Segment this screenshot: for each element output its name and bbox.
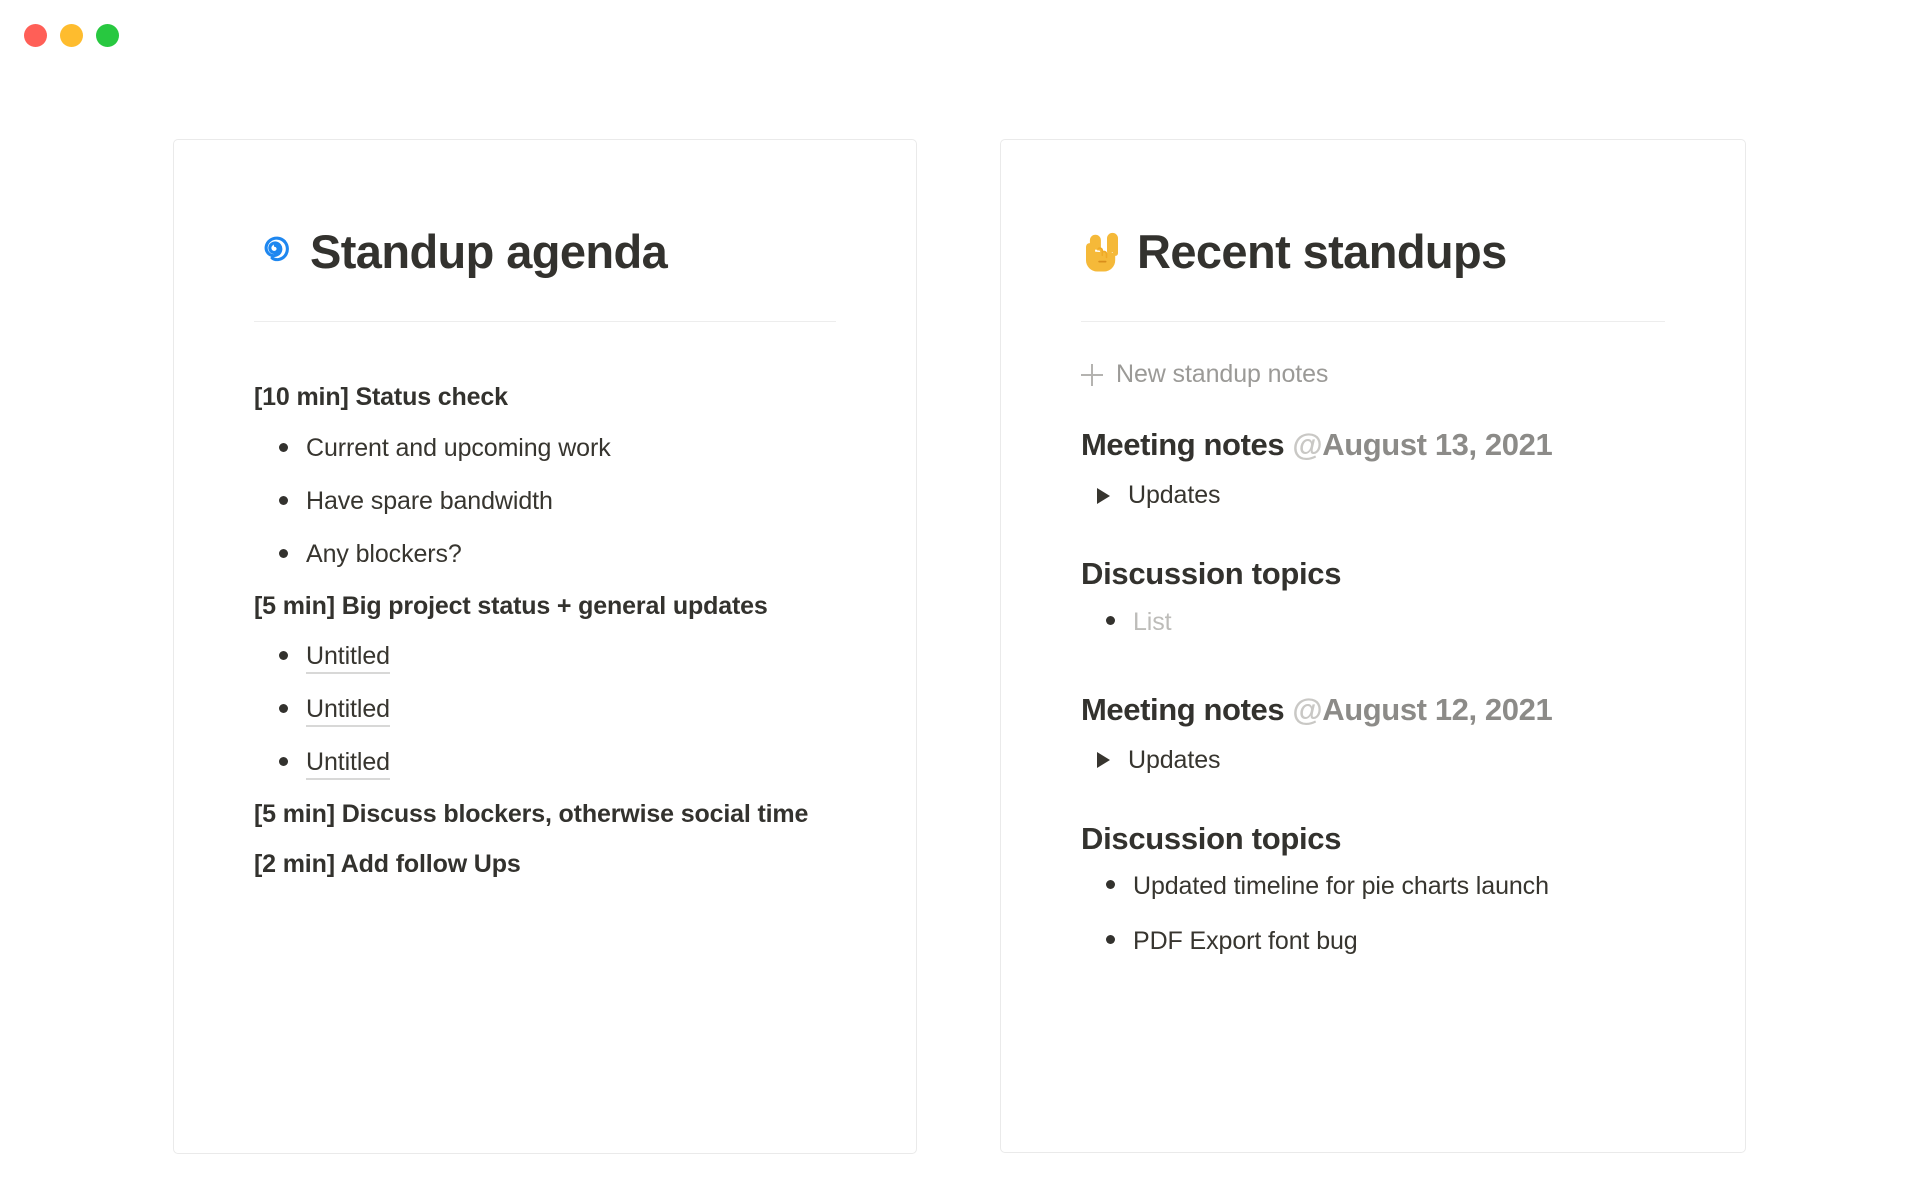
list-item-text: Current and upcoming work [306,434,611,462]
list-item-text: PDF Export font bug [1133,927,1358,955]
list-item[interactable]: Untitled [254,736,836,789]
discussion-topics-heading: Discussion topics [1081,779,1665,859]
agenda-block: [5 min] Discuss blockers, otherwise soci… [254,789,836,839]
list-item[interactable]: Have spare bandwidth [254,475,836,528]
standup-agenda-title: Standup agenda [310,225,667,279]
untitled-page-link[interactable]: Untitled [306,642,390,674]
new-standup-notes-label: New standup notes [1116,360,1328,389]
minimize-window-button[interactable] [60,24,83,47]
agenda-bullet-list: Current and upcoming work Have spare ban… [254,422,836,581]
list-item[interactable]: Untitled [254,683,836,736]
list-item[interactable]: Untitled [254,630,836,683]
close-window-button[interactable] [24,24,47,47]
list-item[interactable]: Updated timeline for pie charts launch [1081,859,1665,914]
list-item-text: Have spare bandwidth [306,487,553,515]
standup-entry-date-text: August 13, 2021 [1322,427,1552,462]
standup-agenda-content: Standup agenda [10 min] Status check Cur… [174,140,916,888]
standup-entry-date-text: August 12, 2021 [1322,692,1552,727]
list-item-text: List [1133,608,1172,636]
discussion-topics-list: List [1081,595,1665,650]
standup-entry: Meeting notes @August 13, 2021 Updates D… [1081,403,1665,650]
list-item-text: Updated timeline for pie charts launch [1133,872,1549,900]
chevron-right-icon[interactable] [1097,752,1110,768]
recent-standups-card: Recent standups New standup notes Meetin… [1000,139,1746,1153]
discussion-topics-heading: Discussion topics [1081,514,1665,594]
at-symbol: @ [1292,427,1322,462]
list-item[interactable]: List [1081,595,1665,650]
app-canvas: Standup agenda [10 min] Status check Cur… [0,0,1920,1200]
maximize-window-button[interactable] [96,24,119,47]
standup-entry: Meeting notes @August 12, 2021 Updates D… [1081,668,1665,970]
traffic-light-buttons [24,24,119,47]
standup-entry-title-row[interactable]: Meeting notes @August 12, 2021 [1081,690,1665,730]
list-item[interactable]: Any blockers? [254,528,836,581]
plus-icon [1081,364,1103,386]
recent-standups-body: New standup notes Meeting notes @August … [1081,322,1665,969]
cyclone-icon [254,232,294,272]
agenda-heading[interactable]: [10 min] Status check [254,372,836,422]
updates-toggle[interactable]: Updates [1081,730,1665,779]
recent-standups-content: Recent standups New standup notes Meetin… [1001,140,1745,969]
agenda-block: [5 min] Big project status + general upd… [254,581,836,790]
agenda-heading[interactable]: [2 min] Add follow Ups [254,839,836,889]
updates-toggle[interactable]: Updates [1081,465,1665,514]
agenda-block: [10 min] Status check Current and upcomi… [254,372,836,581]
recent-standups-title-row: Recent standups [1081,140,1665,279]
standup-entry-date: @August 12, 2021 [1292,692,1552,727]
standup-entry-title: Meeting notes [1081,692,1284,727]
chevron-right-icon[interactable] [1097,488,1110,504]
agenda-bullet-list: Untitled Untitled Untitled [254,630,836,789]
agenda-block: [2 min] Add follow Ups [254,839,836,889]
list-item[interactable]: Current and upcoming work [254,422,836,475]
updates-toggle-label: Updates [1128,746,1220,775]
discussion-topics-list: Updated timeline for pie charts launch P… [1081,859,1665,969]
standup-entry-title: Meeting notes [1081,427,1284,462]
recent-standups-title: Recent standups [1137,225,1507,279]
standup-entry-title-row[interactable]: Meeting notes @August 13, 2021 [1081,425,1665,465]
untitled-page-link[interactable]: Untitled [306,748,390,780]
standup-entry-date: @August 13, 2021 [1292,427,1552,462]
updates-toggle-label: Updates [1128,481,1220,510]
untitled-page-link[interactable]: Untitled [306,695,390,727]
new-standup-notes-button[interactable]: New standup notes [1081,346,1665,403]
agenda-blocks: [10 min] Status check Current and upcomi… [254,322,836,888]
entry-spacer [1081,650,1665,668]
list-item-text: Any blockers? [306,540,462,568]
agenda-heading[interactable]: [5 min] Discuss blockers, otherwise soci… [254,789,836,839]
agenda-heading[interactable]: [5 min] Big project status + general upd… [254,581,836,631]
at-symbol: @ [1292,692,1322,727]
standup-agenda-title-row: Standup agenda [254,140,836,279]
window-titlebar [0,0,1920,72]
standup-agenda-card: Standup agenda [10 min] Status check Cur… [173,139,917,1154]
list-item[interactable]: PDF Export font bug [1081,914,1665,969]
sign-of-the-horns-icon [1081,231,1121,273]
